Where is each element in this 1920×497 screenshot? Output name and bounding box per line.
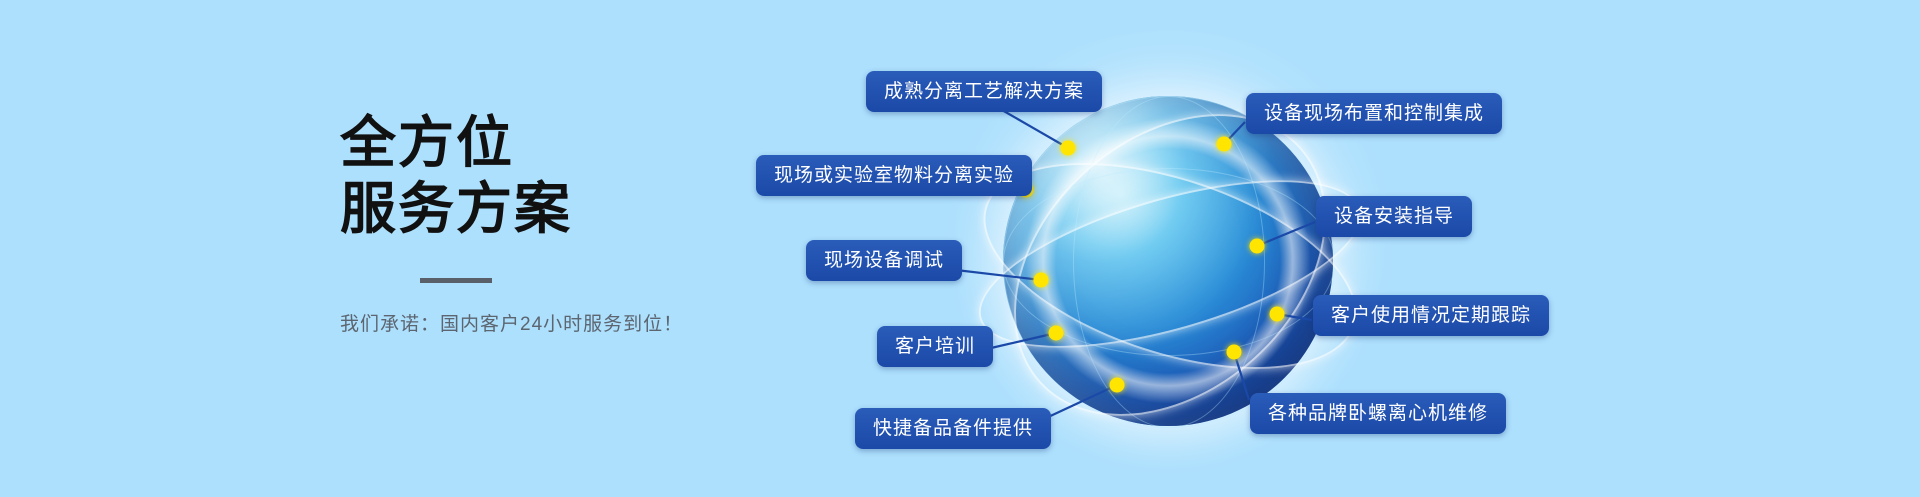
headline-line-2: 服务方案 xyxy=(340,176,760,242)
connector-dot-periodic-customer-usage-follow-up xyxy=(1270,307,1285,322)
service-label-all-brand-decanter-centrifuge-repair[interactable]: 各种品牌卧螺离心机维修 xyxy=(1250,393,1506,434)
subtitle-text: 我们承诺：国内客户24小时服务到位！ xyxy=(340,309,760,336)
service-label-periodic-customer-usage-follow-up[interactable]: 客户使用情况定期跟踪 xyxy=(1313,295,1549,336)
connector-dot-fast-spare-parts-supply xyxy=(1110,378,1125,393)
connector-dot-equipment-site-layout-and-control-integration xyxy=(1217,137,1232,152)
connector-dot-mature-separation-process-solution xyxy=(1061,141,1076,156)
headline-line-1: 全方位 xyxy=(340,111,514,174)
connector-dot-all-brand-decanter-centrifuge-repair xyxy=(1227,345,1242,360)
service-label-onsite-equipment-commissioning[interactable]: 现场设备调试 xyxy=(806,240,962,281)
service-label-mature-separation-process-solution[interactable]: 成熟分离工艺解决方案 xyxy=(866,71,1102,112)
service-label-fast-spare-parts-supply[interactable]: 快捷备品备件提供 xyxy=(855,408,1051,449)
service-label-equipment-site-layout-and-control-integration[interactable]: 设备现场布置和控制集成 xyxy=(1246,93,1502,134)
title-divider xyxy=(420,278,492,283)
connector-dot-onsite-equipment-commissioning xyxy=(1034,273,1049,288)
service-label-equipment-installation-guidance[interactable]: 设备安装指导 xyxy=(1316,196,1472,237)
service-plan-banner: 全方位 服务方案 我们承诺：国内客户24小时服务到位！ xyxy=(0,0,1920,497)
service-label-customer-training[interactable]: 客户培训 xyxy=(877,326,993,367)
connector-dot-customer-training xyxy=(1049,326,1064,341)
connector-dot-equipment-installation-guidance xyxy=(1250,239,1265,254)
page-title: 全方位 服务方案 xyxy=(340,110,760,242)
headline-block: 全方位 服务方案 我们承诺：国内客户24小时服务到位！ xyxy=(340,110,760,336)
service-label-onsite-or-lab-material-separation-test[interactable]: 现场或实验室物料分离实验 xyxy=(756,155,1032,196)
